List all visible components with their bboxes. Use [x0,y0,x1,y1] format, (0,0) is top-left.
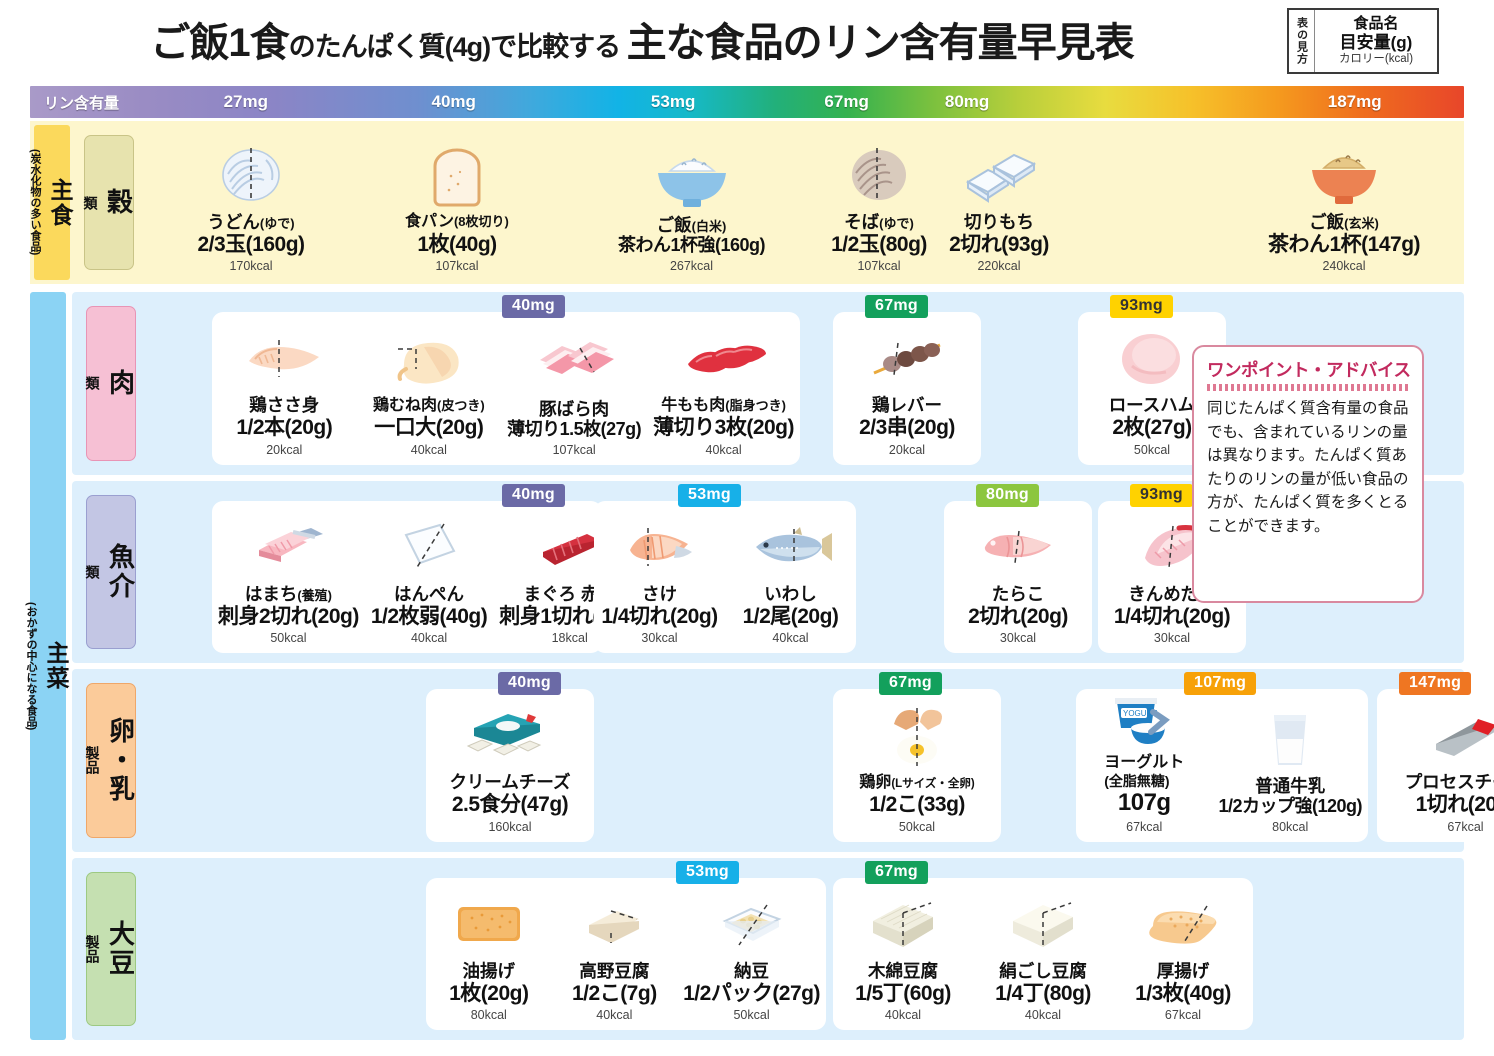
grain-items-area: うどん(ゆで)2/3玉(160g)170kcal食パン(8枚切り)1枚(40g)… [134,121,1464,284]
egg-icon [884,704,950,770]
how-to-read-legend: 表の見方 食品名 目安量(g) カロリー(kcal) [1287,8,1439,74]
phosphorus-badge: 80mg [976,484,1039,507]
phosphorus-badge: 67mg [865,295,928,318]
page-header: ご飯1食のたんぱく質(4g)で比較する 主な食品のリン含有量早見表 表の見方 食… [0,0,1494,86]
food-calories: 67kcal [1165,1008,1201,1022]
yogurt-icon: YOGURT [1103,688,1185,750]
food-calories: 50kcal [270,631,306,645]
kinu-tofu-icon [1007,891,1079,957]
food-name: 高野豆腐 [579,961,649,981]
food-item: 食パン(8枚切り)1枚(40g)107kcal [382,133,532,273]
food-name-line: うどん(ゆで) [207,212,294,232]
process-cheese-icon [1430,702,1494,768]
group-label-staple: 主食 (炭水化物の多い食品) [34,125,70,280]
food-calories: 40kcal [1025,1008,1061,1022]
food-item: 鶏ささ身1/2本(20g)20kcal [212,320,357,457]
food-name-line: ヨーグルト(全脂無糖) [1104,754,1184,788]
food-name-line: 牛もも肉(脂身つき) [661,397,786,415]
food-calories: 40kcal [411,631,447,645]
food-item: 厚揚げ1/3枚(40g)67kcal [1113,886,1253,1023]
food-name-note: (玄米) [1344,216,1379,231]
food-card: 53mg油揚げ1枚(20g)80kcal高野豆腐1/2こ(7g)40kcal納豆… [426,878,826,1031]
food-name-line: たらこ [992,584,1045,604]
food-portion: 薄切り1.5枚(27g) [507,419,641,441]
food-name-line: プロセスチーズ [1405,772,1494,792]
rice-brown-icon [1308,142,1380,208]
food-name-line: 高野豆腐 [579,961,649,981]
phosphorus-badge: 107mg [1184,672,1256,695]
natto-icon [719,891,785,957]
food-calories: 40kcal [885,1008,921,1022]
food-name-line: ご飯(玄米) [1309,212,1379,232]
food-name-line: さけ [642,584,677,604]
food-portion: 107g [1118,789,1171,818]
food-calories: 30kcal [641,631,677,645]
food-name-line: 納豆 [734,961,769,981]
aburaage-icon [452,891,526,957]
food-name-note: (白米) [692,219,727,234]
food-item: 納豆1/2パック(27g)50kcal [677,886,826,1023]
food-calories: 40kcal [706,443,742,457]
food-name-note: (ゆで) [879,216,914,231]
food-calories: 40kcal [596,1008,632,1022]
food-portion: 1/2パック(27g) [683,981,820,1006]
food-card: 107mgYOGURTヨーグルト(全脂無糖)107g67kcal普通牛乳1/2カ… [1076,689,1368,842]
food-portion: 1/2本(20g) [236,415,332,440]
food-item: 高野豆腐1/2こ(7g)40kcal [552,886,678,1023]
food-portion: 2/3玉(160g) [197,232,304,257]
food-portion: 1/2こ(33g) [869,792,965,817]
phosphorus-badge: 40mg [502,295,565,318]
legend-food-name-label: 食品名 [1353,15,1398,33]
food-calories: 20kcal [266,443,302,457]
food-name: 切りもち [964,212,1034,232]
phosphorus-badge: 93mg [1130,484,1193,507]
food-name-note: (養殖) [297,588,332,603]
food-name: クリームチーズ [449,772,570,792]
food-calories: 40kcal [772,631,808,645]
scale-tick-40mg: 40mg [432,92,476,112]
beef-momo-icon [682,327,766,393]
phosphorus-badge: 67mg [879,672,942,695]
advice-title: ワンポイント・アドバイス [1207,357,1409,382]
food-portion: 刺身2切れ(20g) [218,604,359,629]
food-name-note: (全脂無糖) [1104,773,1184,789]
food-calories: 50kcal [733,1008,769,1022]
group-staple-foods: 主食 (炭水化物の多い食品) 穀 類 うどん(ゆで)2/3玉(160g)170k… [30,121,1464,284]
food-name: 厚揚げ [1157,961,1210,981]
food-portion: 1/2カップ強(120g) [1218,796,1362,818]
food-name-line: クリームチーズ [449,772,570,792]
food-item: 木綿豆腐1/5丁(60g)40kcal [833,886,973,1023]
food-item: うどん(ゆで)2/3玉(160g)170kcal [176,133,326,273]
food-name-line: 鶏ささ身 [249,395,319,415]
food-name: そば [844,212,879,232]
phosphorus-badge: 40mg [502,484,565,507]
food-name: はんぺん [394,584,464,604]
food-item: YOGURTヨーグルト(全脂無糖)107g67kcal [1076,697,1212,834]
food-calories: 50kcal [899,820,935,834]
food-calories: 40kcal [411,443,447,457]
food-name-line: 木綿豆腐 [868,961,938,981]
cards-area: 53mg油揚げ1枚(20g)80kcal高野豆腐1/2こ(7g)40kcal納豆… [136,858,1464,1041]
food-item: 鶏むね肉(皮つき)一口大(20g)40kcal [357,320,502,457]
advice-underline-decoration [1207,384,1409,391]
food-name: 食パン [405,213,454,230]
legend-calorie-label: カロリー(kcal) [1339,53,1413,67]
food-portion: 1/2枚弱(40g) [371,604,487,629]
one-point-advice-box: ワンポイント・アドバイス 同じたんぱく質含有量の食品でも、含まれているリンの量は… [1192,345,1424,603]
food-calories: 107kcal [553,443,596,457]
food-portion: 1/2玉(80g) [831,232,927,257]
category-label-meat: 肉類 [86,306,136,461]
udon-icon [214,142,288,208]
food-item: そば(ゆで)1/2玉(80g)107kcal [814,133,944,273]
food-card: 67mg鶏卵(Lサイズ・全卵)1/2こ(33g)50kcal [833,689,1001,842]
food-name: 木綿豆腐 [868,961,938,981]
food-calories: 30kcal [1154,631,1190,645]
food-name: 絹ごし豆腐 [999,961,1087,981]
food-portion: 1切れ(20g) [1416,792,1494,817]
legend-vertical-label: 表の見方 [1289,10,1315,72]
food-name: 牛もも肉 [661,397,725,414]
food-name-line: 普通牛乳 [1255,776,1325,796]
sardine-icon [750,514,832,580]
food-name-note: (8枚切り) [454,214,509,229]
category-label-fish: 魚介類 [86,495,136,650]
food-item: 油揚げ1枚(20g)80kcal [426,886,552,1023]
food-item: いわし1/2尾(20g)40kcal [725,509,856,646]
title-part-4: g [467,32,483,62]
food-calories: 160kcal [488,820,531,834]
milk-icon [1265,706,1315,772]
cards-area: 40mgクリームチーズ2.5食分(47g)160kcal67mg鶏卵(Lサイズ・… [136,669,1464,852]
food-name: ご飯 [657,215,692,235]
title-part-6: 主な食品のリン含有量早見表 [627,21,1134,65]
phosphorus-badge: 147mg [1399,672,1471,695]
food-name-note: (脂身つき) [725,398,786,413]
phosphorus-badge: 67mg [865,861,928,884]
food-calories: 30kcal [1000,631,1036,645]
food-name: 豚ばら肉 [539,399,609,419]
category-label-egg-dairy: 卵・乳製品 [86,683,136,838]
scale-tick-27mg: 27mg [224,92,268,112]
momen-tofu-icon [867,891,939,957]
food-calories: 67kcal [1126,820,1162,834]
title-part-1: ご飯1食 [150,21,288,65]
koya-dofu-icon [583,891,645,957]
food-name: 鶏レバー [872,395,942,415]
food-item: はまち(養殖)刺身2切れ(20g)50kcal [212,509,365,646]
tarako-icon [979,514,1057,580]
food-portion: 1/5丁(60g) [855,981,951,1006]
food-portion: 1枚(40g) [417,232,496,257]
food-item: 鶏レバー2/3串(20g)20kcal [833,320,981,457]
food-name: はまち [245,584,298,604]
food-name: 納豆 [734,961,769,981]
food-item: たらこ2切れ(20g)30kcal [944,509,1092,646]
food-name-line: 厚揚げ [1157,961,1210,981]
food-item: 普通牛乳1/2カップ強(120g)80kcal [1212,697,1368,834]
phosphorus-scale-bar: リン含有量 27mg40mg53mg67mg80mg187mg [30,86,1464,118]
food-name-note: (ゆで) [260,216,295,231]
phosphorus-badge: 93mg [1110,295,1173,318]
pork-belly-icon [532,329,616,395]
food-portion: 1/4切れ(20g) [601,604,717,629]
food-portion: 2.5食分(47g) [452,792,568,817]
food-item: 絹ごし豆腐1/4丁(80g)40kcal [973,886,1113,1023]
category-label-soy: 大豆製品 [86,872,136,1027]
bread-icon [427,143,487,209]
atsuage-icon [1145,891,1221,957]
food-portion: 2切れ(93g) [949,232,1049,257]
food-card: 147mgプロセスチーズ1切れ(20g)67kcal [1377,689,1494,842]
food-name-line: 油揚げ [463,961,516,981]
scale-tick-80mg: 80mg [945,92,989,112]
food-calories: 80kcal [1272,820,1308,834]
food-card: 40mg鶏ささ身1/2本(20g)20kcal鶏むね肉(皮つき)一口大(20g)… [212,312,800,465]
food-portion: 1/4丁(80g) [995,981,1091,1006]
food-portion: 2切れ(20g) [968,604,1068,629]
food-name: 普通牛乳 [1255,776,1325,796]
legend-portion-label: 目安量(g) [1340,33,1413,53]
food-name: プロセスチーズ [1405,772,1494,792]
food-card: 80mgたらこ2切れ(20g)30kcal [944,501,1092,654]
rice-white-icon [652,145,732,211]
food-portion: 一口大(20g) [374,415,483,440]
food-card: 67mg木綿豆腐1/5丁(60g)40kcal絹ごし豆腐1/4丁(80g)40k… [833,878,1253,1031]
mochi-icon [960,142,1038,208]
food-calories: 220kcal [977,259,1020,273]
scale-tick-67mg: 67mg [824,92,868,112]
food-calories: 107kcal [857,259,900,273]
food-calories: 67kcal [1447,820,1483,834]
food-portion: 2枚(27g) [1112,415,1191,440]
phosphorus-badge: 53mg [676,861,739,884]
salmon-icon [622,514,698,580]
food-calories: 240kcal [1322,259,1365,273]
food-portion: 2/3串(20g) [859,415,955,440]
title-part-5: )で比較する [482,32,627,62]
food-portion: 薄切り3枚(20g) [653,415,794,440]
category-row-soy: 大豆製品53mg油揚げ1枚(20g)80kcal高野豆腐1/2こ(7g)40kc… [72,858,1464,1041]
food-calories: 18kcal [552,631,588,645]
food-card: 40mgクリームチーズ2.5食分(47g)160kcal [426,689,594,842]
food-name: 油揚げ [463,961,516,981]
food-portion: 1/2尾(20g) [743,604,839,629]
food-calories: 267kcal [670,259,713,273]
phosphorus-badge: 53mg [678,484,741,507]
food-calories: 50kcal [1134,443,1170,457]
food-item: ご飯(白米)茶わん1杯強(160g)267kcal [584,133,799,273]
legend-body: 食品名 目安量(g) カロリー(kcal) [1315,10,1437,72]
food-calories: 80kcal [471,1008,507,1022]
food-name: ロースハム [1109,395,1196,415]
group-label-main-dish: 主菜(おかずの中心になる食品) [30,292,66,1040]
food-name-line: いわし [764,584,817,604]
food-name-note: (Lサイズ・全卵) [891,778,974,790]
food-portion: 1/4切れ(20g) [1114,604,1230,629]
food-calories: 20kcal [889,443,925,457]
advice-body-text: 同じたんぱく質含有量の食品でも、含まれているリンの量は異なります。たんぱく質あた… [1207,397,1409,538]
food-name: ヨーグルト [1104,754,1184,771]
soba-icon [846,142,912,208]
food-calories: 107kcal [435,259,478,273]
phosphorus-badge: 40mg [498,672,561,695]
food-name-line: 豚ばら肉 [539,399,609,419]
food-name: うどん [207,212,260,232]
category-label-grain: 穀 類 [84,135,134,270]
food-name: たらこ [992,584,1045,604]
chicken-liver-icon [868,325,946,391]
chicken-sasami-icon [243,325,325,391]
food-name: 鶏卵 [859,774,891,791]
food-name: ご飯 [1309,212,1344,232]
food-calories: 170kcal [229,259,272,273]
food-item: 切りもち2切れ(93g)220kcal [929,133,1069,273]
hamachi-icon [249,514,327,580]
food-name-note: (皮つき) [437,398,485,413]
food-item: プロセスチーズ1切れ(20g)67kcal [1377,697,1494,834]
food-item: 鶏卵(Lサイズ・全卵)1/2こ(33g)50kcal [833,697,1001,834]
food-portion: 1枚(20g) [449,981,528,1006]
category-row-egg-dairy: 卵・乳製品40mgクリームチーズ2.5食分(47g)160kcal67mg鶏卵(… [72,669,1464,852]
chicken-breast-icon [390,327,468,393]
scale-tick-187mg: 187mg [1328,92,1382,112]
food-portion: 1/2こ(7g) [572,981,657,1006]
food-item: 牛もも肉(脂身つき)薄切り3枚(20g)40kcal [647,320,800,457]
food-name: さけ [642,584,677,604]
food-card: 40mgはまち(養殖)刺身2切れ(20g)50kcalはんぺん1/2枚弱(40g… [212,501,602,654]
food-item: クリームチーズ2.5食分(47g)160kcal [426,697,594,834]
food-name-line: はんぺん [394,584,464,604]
hanpen-icon [398,514,460,580]
food-name-line: 鶏卵(Lサイズ・全卵) [859,774,974,792]
food-card: 67mg鶏レバー2/3串(20g)20kcal [833,312,981,465]
food-name-line: そば(ゆで) [844,212,914,232]
food-item: はんぺん1/2枚弱(40g)40kcal [365,509,493,646]
food-portion: 茶わん1杯強(160g) [618,235,765,257]
food-name: いわし [764,584,817,604]
food-item: 豚ばら肉薄切り1.5枚(27g)107kcal [501,320,647,457]
food-name-line: 絹ごし豆腐 [999,961,1087,981]
title-part-3: (4 [445,32,467,62]
ham-icon [1118,325,1186,391]
scale-tick-53mg: 53mg [651,92,695,112]
scale-axis-label: リン含有量 [44,92,119,113]
food-name-line: はまち(養殖) [245,584,332,604]
food-portion: 茶わん1杯(147g) [1268,232,1420,257]
cream-cheese-icon [464,702,556,768]
food-name-line: 切りもち [964,212,1034,232]
food-card: 53mgさけ1/4切れ(20g)30kcalいわし1/2尾(20g)40kcal [594,501,856,654]
food-name-line: 食パン(8枚切り) [405,213,509,231]
food-name-line: 鶏レバー [872,395,942,415]
food-item: さけ1/4切れ(20g)30kcal [594,509,725,646]
food-name-line: ロースハム [1109,395,1196,415]
food-name: 鶏ささ身 [249,395,319,415]
food-item: ご飯(玄米)茶わん1杯(147g)240kcal [1244,133,1444,273]
page-title: ご飯1食のたんぱく質(4g)で比較する 主な食品のリン含有量早見表 [0,10,1284,68]
food-name: 鶏むね肉 [373,397,437,414]
food-portion: 1/3枚(40g) [1135,981,1231,1006]
food-name-line: ご飯(白米) [657,215,727,235]
food-name-line: 鶏むね肉(皮つき) [373,397,485,415]
title-part-2: のたんぱく質 [289,32,445,62]
